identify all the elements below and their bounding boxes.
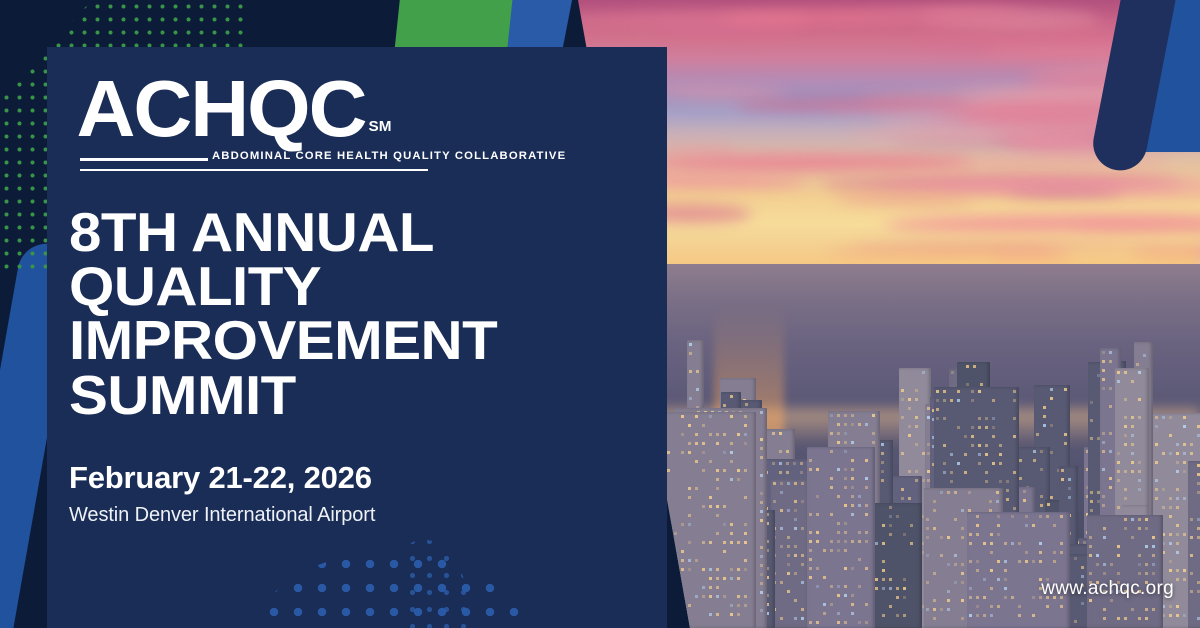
window-light <box>992 435 995 438</box>
window-light <box>947 608 950 611</box>
window-light <box>844 540 847 543</box>
window-light <box>716 532 719 535</box>
window-light <box>882 542 885 545</box>
window-light <box>889 605 892 608</box>
window-light <box>1023 490 1026 493</box>
window-light <box>961 572 964 575</box>
window-light <box>1176 551 1179 554</box>
window-light <box>1064 388 1067 391</box>
window-light <box>1006 498 1009 501</box>
window-light <box>709 433 712 436</box>
window-light <box>1006 489 1009 492</box>
window-light <box>969 560 972 563</box>
window-light <box>1013 417 1016 420</box>
window-light <box>996 500 999 503</box>
window-light <box>1183 452 1186 455</box>
window-light <box>990 614 993 617</box>
window-light <box>801 527 804 530</box>
window-light <box>1004 578 1007 581</box>
window-light <box>976 533 979 536</box>
logo-rule-left <box>80 158 208 161</box>
window-light <box>1124 488 1127 491</box>
window-light <box>730 532 733 535</box>
window-light <box>744 415 747 418</box>
window-light <box>1190 590 1193 593</box>
window-light <box>681 415 684 418</box>
window-light <box>695 442 698 445</box>
window-light <box>1109 450 1112 453</box>
window-light <box>667 544 670 547</box>
window-light <box>1145 527 1148 530</box>
window-light <box>1124 398 1127 401</box>
window-light <box>968 491 971 494</box>
window-light <box>851 441 854 444</box>
window-light <box>1124 518 1127 521</box>
window-light <box>723 550 726 553</box>
window-light <box>961 509 964 512</box>
window-light <box>1145 518 1148 521</box>
window-light <box>1138 527 1141 530</box>
window-light <box>976 524 979 527</box>
window-light <box>730 451 733 454</box>
window-light <box>737 577 740 580</box>
window-light <box>1039 542 1042 545</box>
window-light <box>983 578 986 581</box>
window-light <box>844 423 847 426</box>
window-light <box>667 562 670 565</box>
window-light <box>1033 450 1036 453</box>
window-light <box>816 468 819 471</box>
window-light <box>1046 605 1049 608</box>
window-light <box>976 605 979 608</box>
window-light <box>1110 563 1113 566</box>
window-light <box>793 462 796 465</box>
window-light <box>957 399 960 402</box>
window-light <box>844 450 847 453</box>
window-light <box>737 541 740 544</box>
window-light <box>709 568 712 571</box>
window-light <box>709 595 712 598</box>
window-light <box>978 453 981 456</box>
window-light <box>702 442 705 445</box>
window-light <box>1176 443 1179 446</box>
window-light <box>1068 496 1071 499</box>
window-light <box>760 519 763 522</box>
window-light <box>744 442 747 445</box>
window-light <box>809 567 812 570</box>
window-light <box>844 468 847 471</box>
window-light <box>670 613 673 616</box>
window-light <box>1169 560 1172 563</box>
window-light <box>844 531 847 534</box>
window-light <box>1025 551 1028 554</box>
window-light <box>969 596 972 599</box>
window-light <box>737 595 740 598</box>
window-light <box>889 515 892 518</box>
window-light <box>760 609 763 612</box>
window-light <box>990 605 993 608</box>
window-light <box>794 572 797 575</box>
window-light <box>1176 578 1179 581</box>
window-light <box>990 533 993 536</box>
window-light <box>723 541 726 544</box>
window-light <box>851 414 854 417</box>
window-light <box>1176 614 1179 617</box>
window-light <box>908 425 911 428</box>
window-light <box>780 527 783 530</box>
window-light <box>730 568 733 571</box>
window-light <box>971 390 974 393</box>
window-light <box>901 488 904 491</box>
window-light <box>744 568 747 571</box>
window-light <box>1053 551 1056 554</box>
window-light <box>978 417 981 420</box>
window-light <box>1183 533 1186 536</box>
window-light <box>896 614 899 617</box>
window-light <box>760 411 763 414</box>
window-light <box>688 559 691 562</box>
window-light <box>908 407 911 410</box>
window-light <box>760 456 763 459</box>
window-light <box>896 515 899 518</box>
window-light <box>674 604 677 607</box>
window-light <box>744 523 747 526</box>
window-light <box>830 477 833 480</box>
window-light <box>1103 608 1106 611</box>
window-light <box>1124 527 1127 530</box>
window-light <box>674 532 677 535</box>
window-light <box>1183 470 1186 473</box>
window-light <box>1102 360 1105 363</box>
window-light <box>926 581 929 584</box>
window-light <box>1176 542 1179 545</box>
window-light <box>794 482 797 485</box>
window-light <box>1169 515 1172 518</box>
window-light <box>1117 506 1120 509</box>
window-light <box>1090 401 1093 404</box>
window-light <box>947 536 950 539</box>
window-light <box>773 482 776 485</box>
window-light <box>667 607 670 610</box>
window-light <box>716 505 719 508</box>
window-light <box>681 550 684 553</box>
window-light <box>744 595 747 598</box>
window-light <box>851 468 854 471</box>
window-light <box>851 504 854 507</box>
window-light <box>1190 518 1193 521</box>
window-light <box>961 536 964 539</box>
window-light <box>723 469 726 472</box>
window-light <box>837 522 840 525</box>
window-light <box>744 532 747 535</box>
window-light <box>903 578 906 581</box>
window-light <box>865 513 868 516</box>
window-light <box>875 587 878 590</box>
window-light <box>943 471 946 474</box>
window-light <box>801 563 804 566</box>
window-light <box>772 432 775 435</box>
window-light <box>1183 443 1186 446</box>
window-light <box>681 559 684 562</box>
window-light <box>971 426 974 429</box>
window-light <box>896 596 899 599</box>
window-light <box>997 515 1000 518</box>
window-light <box>667 451 670 454</box>
window-light <box>772 462 775 465</box>
window-light <box>1138 554 1141 557</box>
window-light <box>936 408 939 411</box>
window-light <box>1102 369 1105 372</box>
window-light <box>702 541 705 544</box>
window-light <box>1124 470 1127 473</box>
window-light <box>964 471 967 474</box>
window-light <box>794 518 797 521</box>
window-light <box>964 435 967 438</box>
window-light <box>844 441 847 444</box>
window-light <box>702 595 705 598</box>
window-light <box>678 607 681 610</box>
window-light <box>760 501 763 504</box>
window-light <box>1089 536 1092 539</box>
window-light <box>983 596 986 599</box>
window-light <box>950 453 953 456</box>
window-light <box>1102 495 1105 498</box>
window-light <box>1138 488 1141 491</box>
window-light <box>971 399 974 402</box>
window-light <box>737 433 740 436</box>
window-light <box>1050 451 1053 454</box>
window-light <box>1131 608 1134 611</box>
window-light <box>673 566 676 569</box>
window-light <box>940 554 943 557</box>
window-light <box>844 621 847 624</box>
window-light <box>800 462 803 465</box>
window-light <box>816 540 819 543</box>
window-light <box>1117 461 1120 464</box>
window-light <box>976 515 979 518</box>
window-light <box>1131 536 1134 539</box>
window-light <box>1124 434 1127 437</box>
window-light <box>1131 443 1134 446</box>
window-light <box>1061 469 1064 472</box>
window-light <box>1176 461 1179 464</box>
window-light <box>716 568 719 571</box>
window-light <box>837 441 840 444</box>
window-light <box>989 500 992 503</box>
window-light <box>908 398 911 401</box>
window-light <box>709 541 712 544</box>
window-light <box>760 582 763 585</box>
window-light <box>684 613 687 616</box>
window-light <box>730 478 733 481</box>
window-light <box>1124 497 1127 500</box>
window-light <box>1169 416 1172 419</box>
window-light <box>702 424 705 427</box>
window-light <box>1090 419 1093 422</box>
window-light <box>858 495 861 498</box>
window-light <box>910 542 913 545</box>
window-light <box>689 397 692 400</box>
window-light <box>676 609 679 612</box>
window-light <box>787 509 790 512</box>
window-light <box>773 500 776 503</box>
window-light <box>1096 554 1099 557</box>
website-url[interactable]: www.achqc.org <box>1041 578 1174 600</box>
window-light <box>1109 432 1112 435</box>
window-light <box>999 444 1002 447</box>
window-light <box>816 495 819 498</box>
window-light <box>1060 551 1063 554</box>
window-light <box>830 414 833 417</box>
window-light <box>716 595 719 598</box>
window-light <box>1124 617 1127 620</box>
window-light <box>1155 488 1158 491</box>
window-light <box>730 604 733 607</box>
window-light <box>1109 486 1112 489</box>
window-light <box>688 523 691 526</box>
window-light <box>1050 397 1053 400</box>
window-light <box>990 542 993 545</box>
window-light <box>851 486 854 489</box>
window-light <box>809 468 812 471</box>
window-light <box>809 549 812 552</box>
window-light <box>1040 450 1043 453</box>
window-light <box>875 578 878 581</box>
window-light <box>1169 614 1172 617</box>
window-light <box>744 433 747 436</box>
window-light <box>985 453 988 456</box>
window-light <box>670 604 673 607</box>
window-light <box>801 617 804 620</box>
window-light <box>1013 435 1016 438</box>
window-light <box>1039 560 1042 563</box>
window-light <box>681 433 684 436</box>
window-light <box>1011 596 1014 599</box>
event-date: February 21-22, 2026 <box>69 460 372 496</box>
window-light <box>837 594 840 597</box>
window-light <box>1033 459 1036 462</box>
window-light <box>730 577 733 580</box>
window-light <box>730 541 733 544</box>
window-light <box>844 585 847 588</box>
window-light <box>844 594 847 597</box>
window-light <box>851 459 854 462</box>
window-light <box>716 442 719 445</box>
window-light <box>933 599 936 602</box>
window-light <box>723 577 726 580</box>
window-light <box>961 599 964 602</box>
window-light <box>730 442 733 445</box>
window-light <box>980 383 983 386</box>
window-light <box>779 432 782 435</box>
cloud-streak <box>866 11 1099 20</box>
window-light <box>709 505 712 508</box>
window-light <box>716 478 719 481</box>
window-light <box>1169 497 1172 500</box>
window-light <box>1117 470 1120 473</box>
window-light <box>971 444 974 447</box>
window-light <box>910 524 913 527</box>
window-light <box>947 563 950 566</box>
window-light <box>1064 442 1067 445</box>
window-light <box>1131 461 1134 464</box>
window-light <box>794 617 797 620</box>
window-light <box>1064 433 1067 436</box>
window-light <box>779 471 782 474</box>
window-light <box>1103 527 1106 530</box>
headline-line-3: IMPROVEMENT <box>69 313 663 367</box>
window-light <box>926 527 929 530</box>
window-light <box>901 416 904 419</box>
window-light <box>730 395 733 398</box>
window-light <box>1155 425 1158 428</box>
window-light <box>1032 614 1035 617</box>
window-light <box>881 443 884 446</box>
window-light <box>1039 515 1042 518</box>
window-light <box>1103 563 1106 566</box>
window-light <box>1176 605 1179 608</box>
window-light <box>1018 542 1021 545</box>
window-light <box>1013 390 1016 393</box>
window-light <box>1090 491 1093 494</box>
window-light <box>667 616 670 619</box>
window-light <box>851 603 854 606</box>
window-light <box>992 417 995 420</box>
window-light <box>716 577 719 580</box>
window-light <box>1102 351 1105 354</box>
window-light <box>1155 443 1158 446</box>
window-light <box>709 586 712 589</box>
window-light <box>858 585 861 588</box>
window-light <box>1162 506 1165 509</box>
window-light <box>851 423 854 426</box>
window-light <box>882 569 885 572</box>
window-light <box>943 444 946 447</box>
window-light <box>969 533 972 536</box>
window-light <box>901 497 904 500</box>
window-light <box>1023 499 1026 502</box>
window-light <box>744 559 747 562</box>
window-light <box>837 612 840 615</box>
window-light <box>1102 504 1105 507</box>
window-light <box>830 432 833 435</box>
window-light <box>999 480 1002 483</box>
window-light <box>1102 468 1105 471</box>
window-light <box>933 527 936 530</box>
window-light <box>997 605 1000 608</box>
window-light <box>1176 533 1179 536</box>
window-light <box>889 578 892 581</box>
window-light <box>978 444 981 447</box>
window-light <box>1145 545 1148 548</box>
window-light <box>1013 507 1016 510</box>
window-light <box>702 451 705 454</box>
window-light <box>954 518 957 521</box>
window-light <box>915 443 918 446</box>
window-light <box>787 554 790 557</box>
window-light <box>730 523 733 526</box>
window-light <box>881 479 884 482</box>
window-light <box>837 585 840 588</box>
window-light <box>844 567 847 570</box>
window-light <box>1032 596 1035 599</box>
window-light <box>780 482 783 485</box>
achqc-logo: ACHQC SM ABDOMINAL CORE HEALTH QUALITY C… <box>80 72 430 171</box>
window-light <box>1155 416 1158 419</box>
window-light <box>865 423 868 426</box>
window-light <box>851 567 854 570</box>
cloud-streak <box>833 196 973 206</box>
